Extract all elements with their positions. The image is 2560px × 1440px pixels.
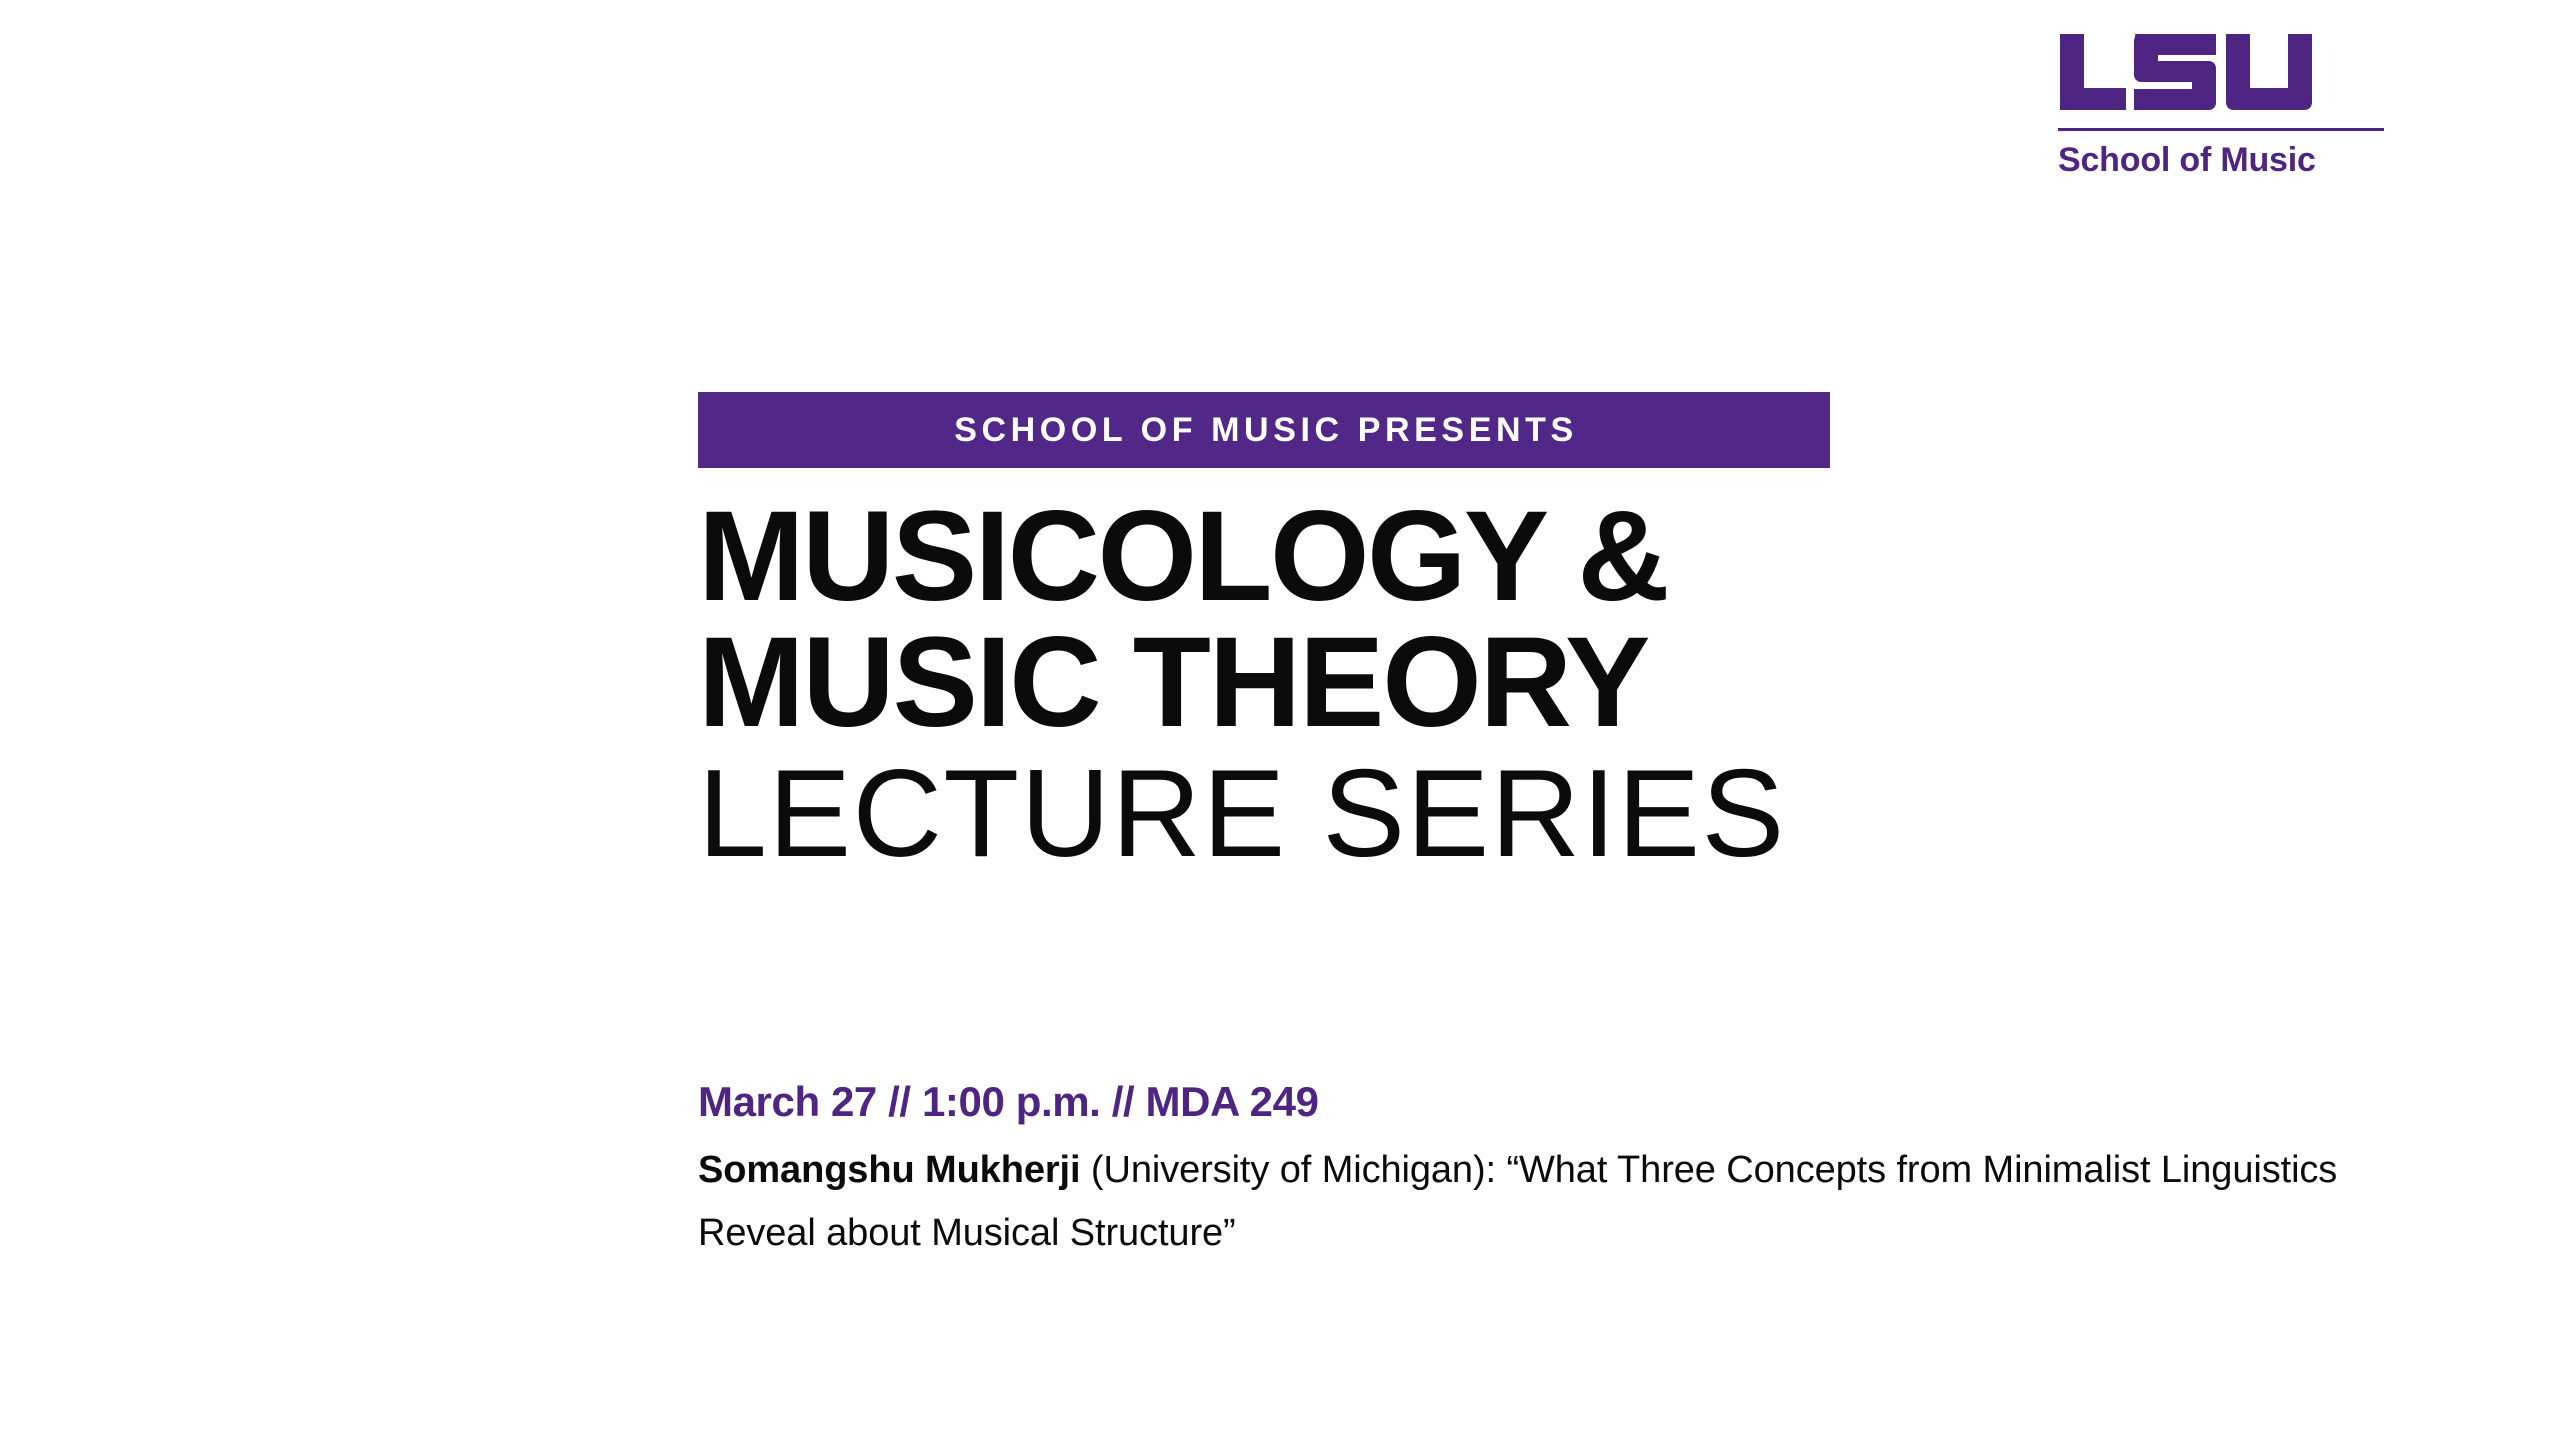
poster-headline-block: SCHOOL OF MUSIC PRESENTS MUSICOLOGY & MU… xyxy=(698,392,2458,880)
logo-divider-rule xyxy=(2058,128,2384,131)
event-speaker-name: Somangshu Mukherji xyxy=(698,1149,1080,1191)
lsu-wordmark-icon xyxy=(2060,34,2312,110)
headline-line-2: MUSIC THEORY xyxy=(698,620,2458,746)
event-details: March 27 // 1:00 p.m. // MDA 249 Somangs… xyxy=(698,1077,2398,1265)
event-datetime-location: March 27 // 1:00 p.m. // MDA 249 xyxy=(698,1077,2398,1127)
lecture-series-poster: School of Music SCHOOL OF MUSIC PRESENTS… xyxy=(0,0,2560,1440)
eyebrow-label: SCHOOL OF MUSIC PRESENTS xyxy=(950,413,1578,447)
headline-line-3: LECTURE SERIES xyxy=(698,748,2458,880)
event-description: Somangshu Mukherji (University of Michig… xyxy=(698,1139,2338,1265)
headline-line-1: MUSICOLOGY & xyxy=(698,494,2458,620)
logo-unit-label: School of Music xyxy=(2058,140,2388,180)
page-title: MUSICOLOGY & MUSIC THEORY LECTURE SERIES xyxy=(698,494,2458,880)
lsu-school-of-music-logo[interactable]: School of Music xyxy=(2058,34,2388,180)
eyebrow-banner: SCHOOL OF MUSIC PRESENTS xyxy=(698,392,1830,468)
